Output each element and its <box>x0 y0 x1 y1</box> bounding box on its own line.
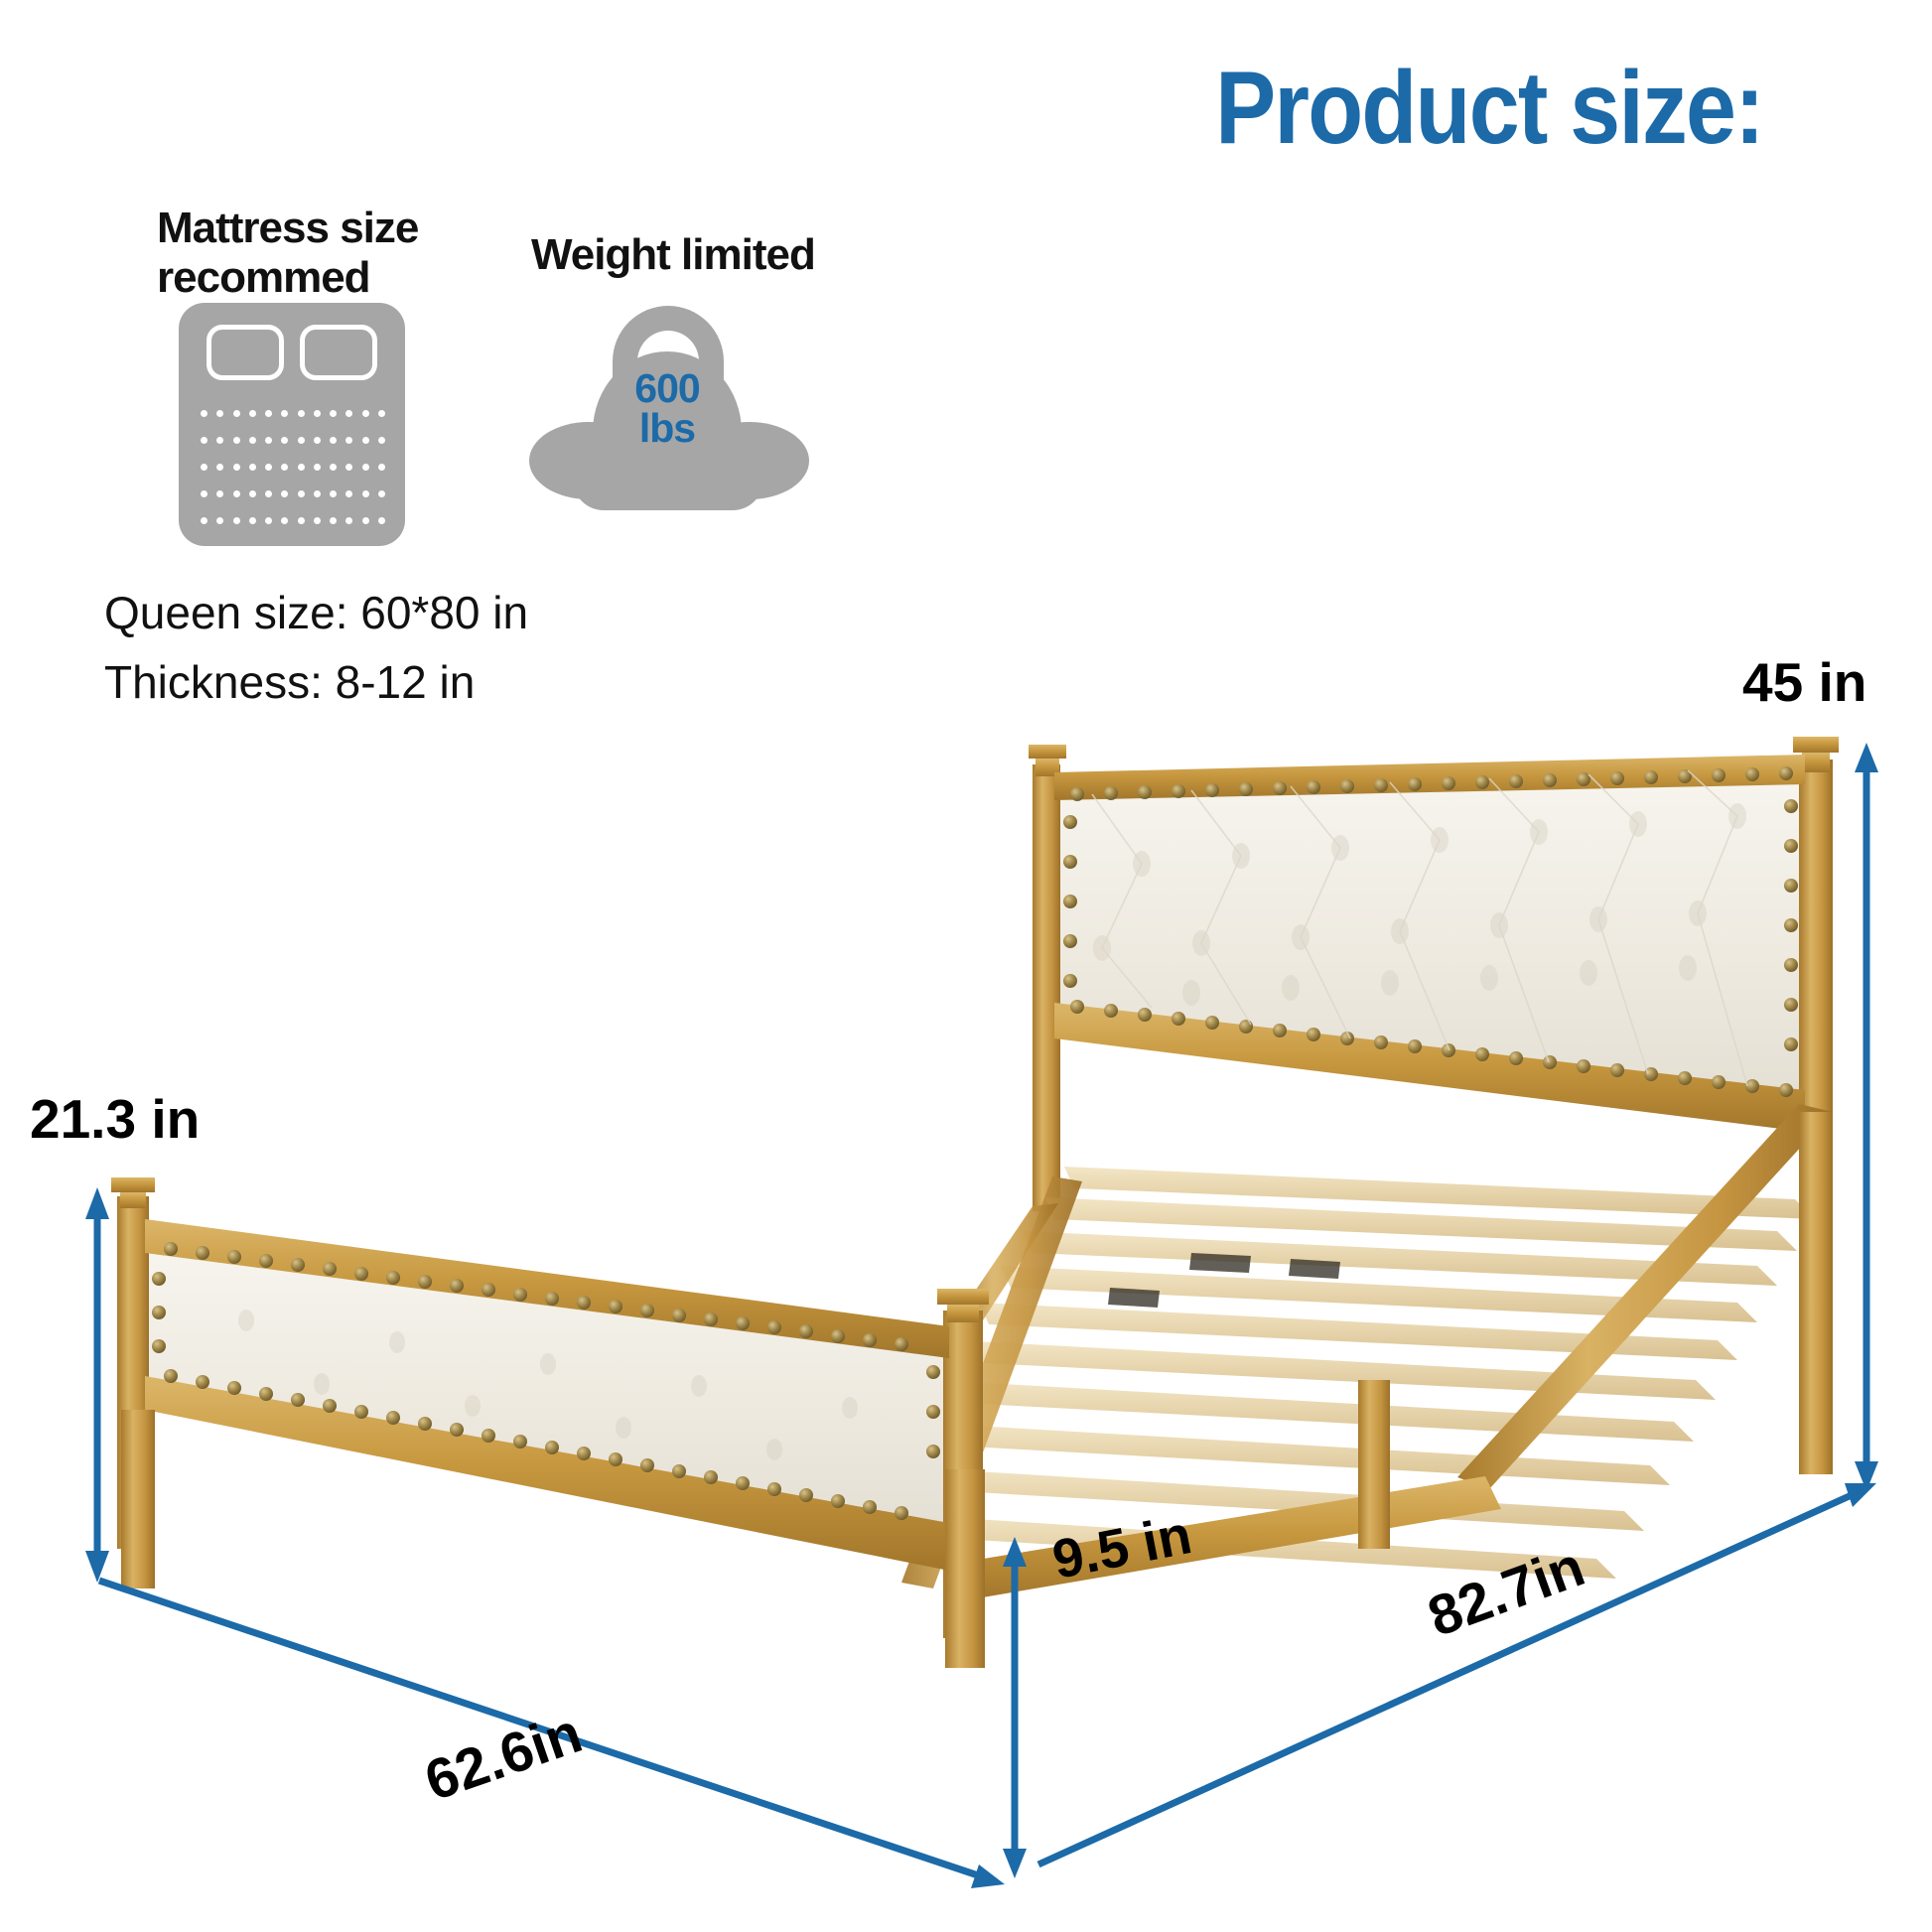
leg-front-right <box>945 1469 985 1668</box>
weight-unit: lbs <box>593 409 742 449</box>
weight-number: 600 <box>593 369 742 409</box>
leg-back-right <box>1358 1380 1390 1549</box>
leg-front-left <box>121 1410 155 1588</box>
weight-limit-value: 600 lbs <box>593 369 742 449</box>
bed-illustration <box>0 0 1932 1932</box>
leg-headboard-right <box>1799 1112 1833 1474</box>
dimension-label-footboard-height: 21.3 in <box>30 1087 200 1151</box>
dimension-label-headboard-height: 45 in <box>1742 650 1866 714</box>
footboard <box>111 1177 989 1638</box>
